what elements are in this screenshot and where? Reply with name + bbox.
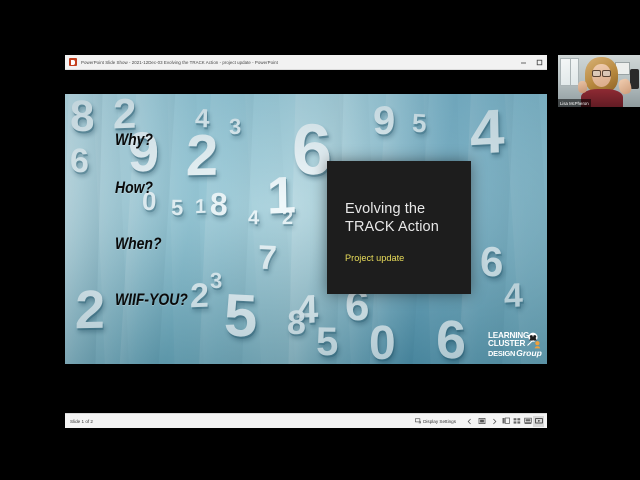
status-bar-tools: Display Settings [412,416,547,427]
pen-tools-button[interactable] [475,416,489,427]
slide-show-stage[interactable]: 8243926954605181420275623254685064 Why? … [65,70,547,413]
webcam-bg-lamp [630,69,639,89]
slide-counter: Slide 1 of 2 [70,419,93,424]
minimize-button[interactable] [515,55,531,69]
learning-cluster-design-group-logo: LEARNING CLUSTER DESIGN Group [488,332,544,362]
webcam-bg-window [560,58,579,86]
participant-name-label: Lisa McPheron [558,99,591,107]
window-title-bar[interactable]: PowerPoint Slide Show - 2021-12Dec-03 Ev… [65,55,547,70]
view-normal[interactable] [500,416,511,427]
screen: PowerPoint Slide Show - 2021-12Dec-03 Ev… [0,0,640,480]
view-slide-sorter[interactable] [511,416,522,427]
slide-title: Evolving the TRACK Action [345,201,467,236]
glasses-icon [592,70,611,75]
powerpoint-logo-icon [69,58,77,66]
question-wiif-you: WIIF-YOU? [115,290,188,310]
display-settings-label: Display Settings [423,419,456,424]
powerpoint-window: PowerPoint Slide Show - 2021-12Dec-03 Ev… [65,55,547,426]
maximize-button[interactable] [531,55,547,69]
display-settings-icon [415,418,421,424]
slide-canvas[interactable]: 8243926954605181420275623254685064 Why? … [65,94,547,364]
next-slide-button[interactable] [489,416,500,427]
webcam-person-hand-left [578,81,587,93]
display-settings-button[interactable]: Display Settings [412,416,459,427]
question-when: When? [115,234,161,254]
previous-slide-button[interactable] [464,416,475,427]
people-in-circle-icon [526,332,543,349]
window-title: PowerPoint Slide Show - 2021-12Dec-03 Ev… [81,60,515,65]
title-card: Evolving the TRACK Action Project update [327,161,471,294]
view-slide-show[interactable] [533,416,544,427]
status-bar: Slide 1 of 2 Display Settings [65,413,547,428]
question-how: How? [115,178,153,198]
logo-line-3: DESIGN [488,350,515,357]
slide-subtitle: Project update [345,253,404,263]
logo-line-4: Group [516,348,542,358]
question-why: Why? [115,130,153,150]
view-reading[interactable] [522,416,533,427]
webcam-video-overlay[interactable]: Lisa McPheron [558,55,640,107]
